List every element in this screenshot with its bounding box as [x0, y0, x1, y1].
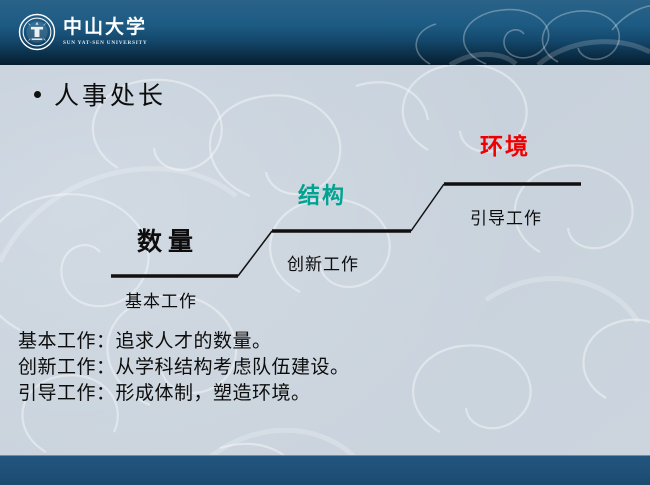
- background-swirl-decoration: [0, 0, 650, 485]
- body-text-block: 基本工作：追求人才的数量。 创新工作：从学科结构考虑队伍建设。 引导工作：形成体…: [18, 328, 350, 406]
- step-top-label-2: 结构: [298, 178, 346, 210]
- slide-canvas: 中山大学 SUN YAT-SEN UNIVERSITY 人事处长 数量 结构 环…: [0, 0, 650, 485]
- logo-name-cn: 中山大学: [63, 18, 147, 38]
- step-bottom-label-1: 基本工作: [125, 287, 197, 312]
- logo-name-en: SUN YAT-SEN UNIVERSITY: [63, 40, 147, 46]
- body-line: 创新工作：从学科结构考虑队伍建设。: [18, 354, 350, 380]
- body-line: 引导工作：形成体制，塑造环境。: [18, 380, 350, 406]
- step-bottom-label-2: 创新工作: [287, 250, 359, 275]
- university-logo: 中山大学 SUN YAT-SEN UNIVERSITY: [18, 10, 147, 54]
- body-line: 基本工作：追求人才的数量。: [18, 328, 350, 354]
- slide-title-text: 人事处长: [54, 76, 166, 112]
- header-swirl-decoration: [390, 0, 650, 65]
- sysu-seal-icon: [18, 13, 56, 51]
- logo-wordmark: 中山大学 SUN YAT-SEN UNIVERSITY: [63, 18, 147, 46]
- slide-footer-band: [0, 455, 650, 485]
- step-top-label-3: 环境: [480, 127, 530, 161]
- slide-title: 人事处长: [34, 76, 166, 112]
- bullet-icon: [34, 91, 41, 98]
- step-top-label-1: 数量: [137, 222, 199, 258]
- step-bottom-label-3: 引导工作: [470, 204, 542, 229]
